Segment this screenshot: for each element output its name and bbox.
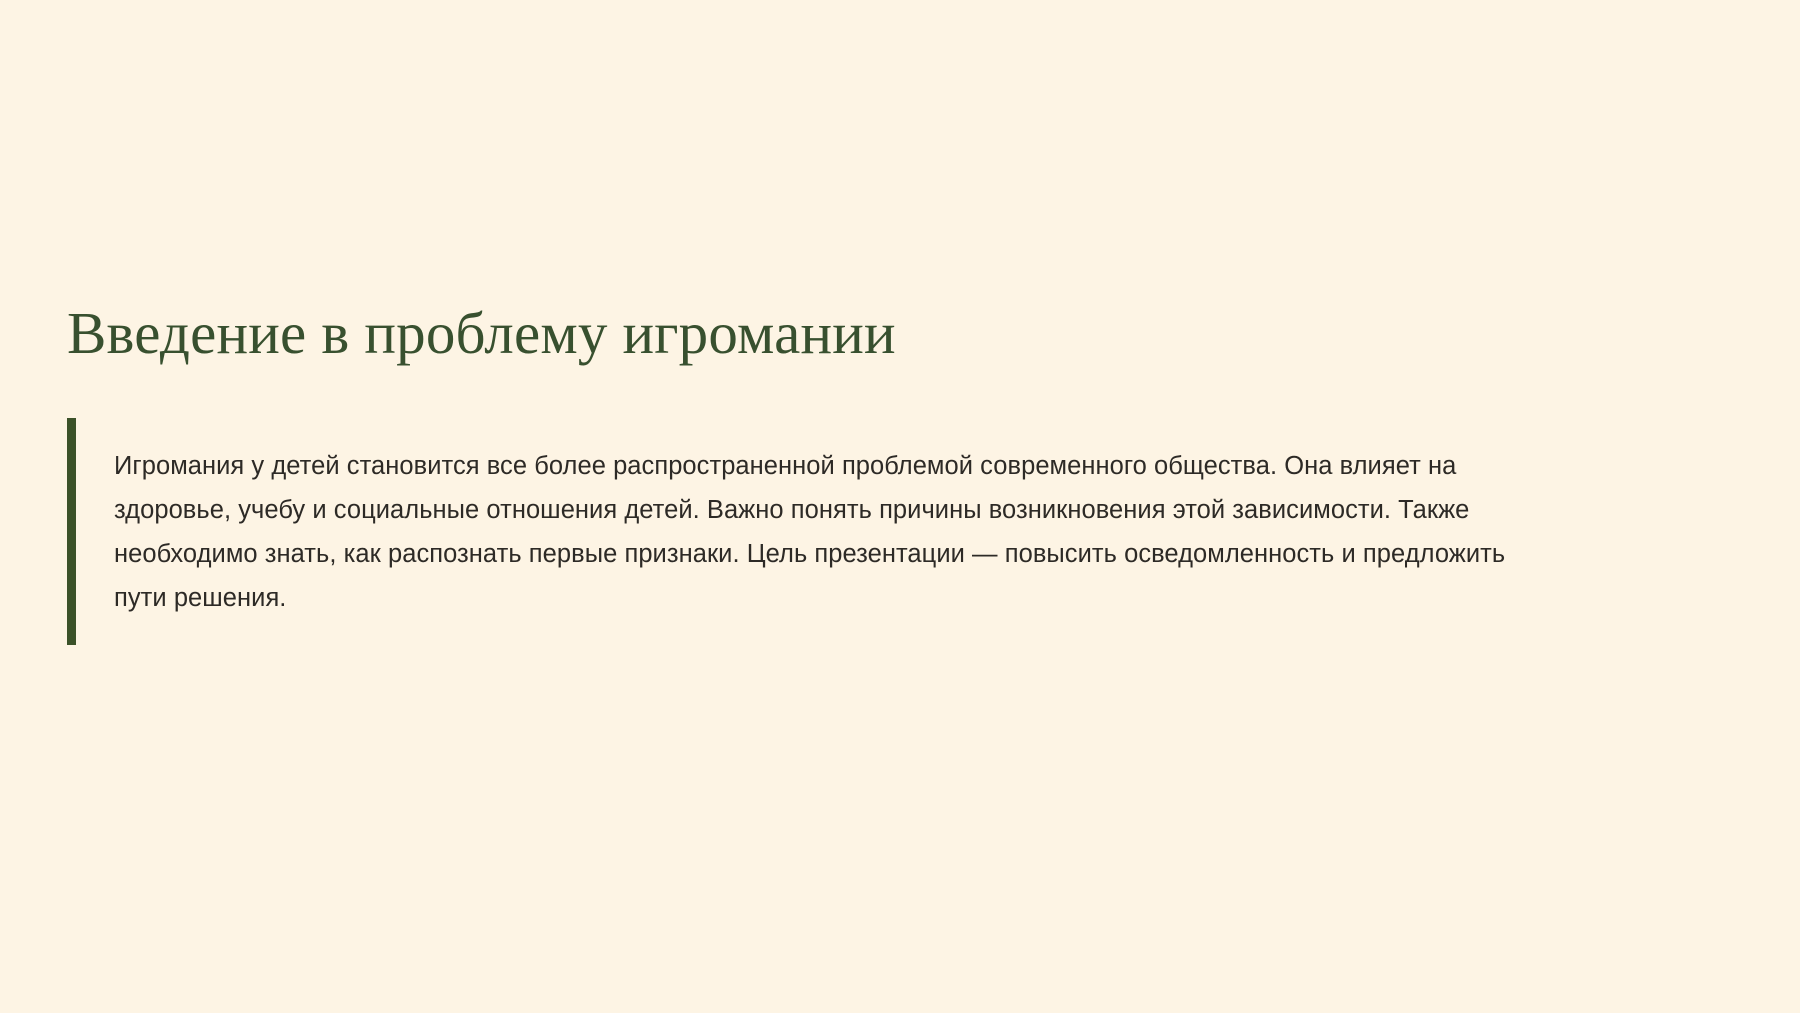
presentation-slide: Введение в проблему игромании Игромания … (0, 0, 1800, 1013)
page-title: Введение в проблему игромании (67, 300, 1727, 366)
slide-content: Введение в проблему игромании Игромания … (67, 300, 1727, 645)
body-paragraph: Игромания у детей становится все более р… (76, 444, 1534, 620)
accent-bar (67, 418, 76, 645)
highlighted-text-block: Игромания у детей становится все более р… (67, 418, 1727, 645)
